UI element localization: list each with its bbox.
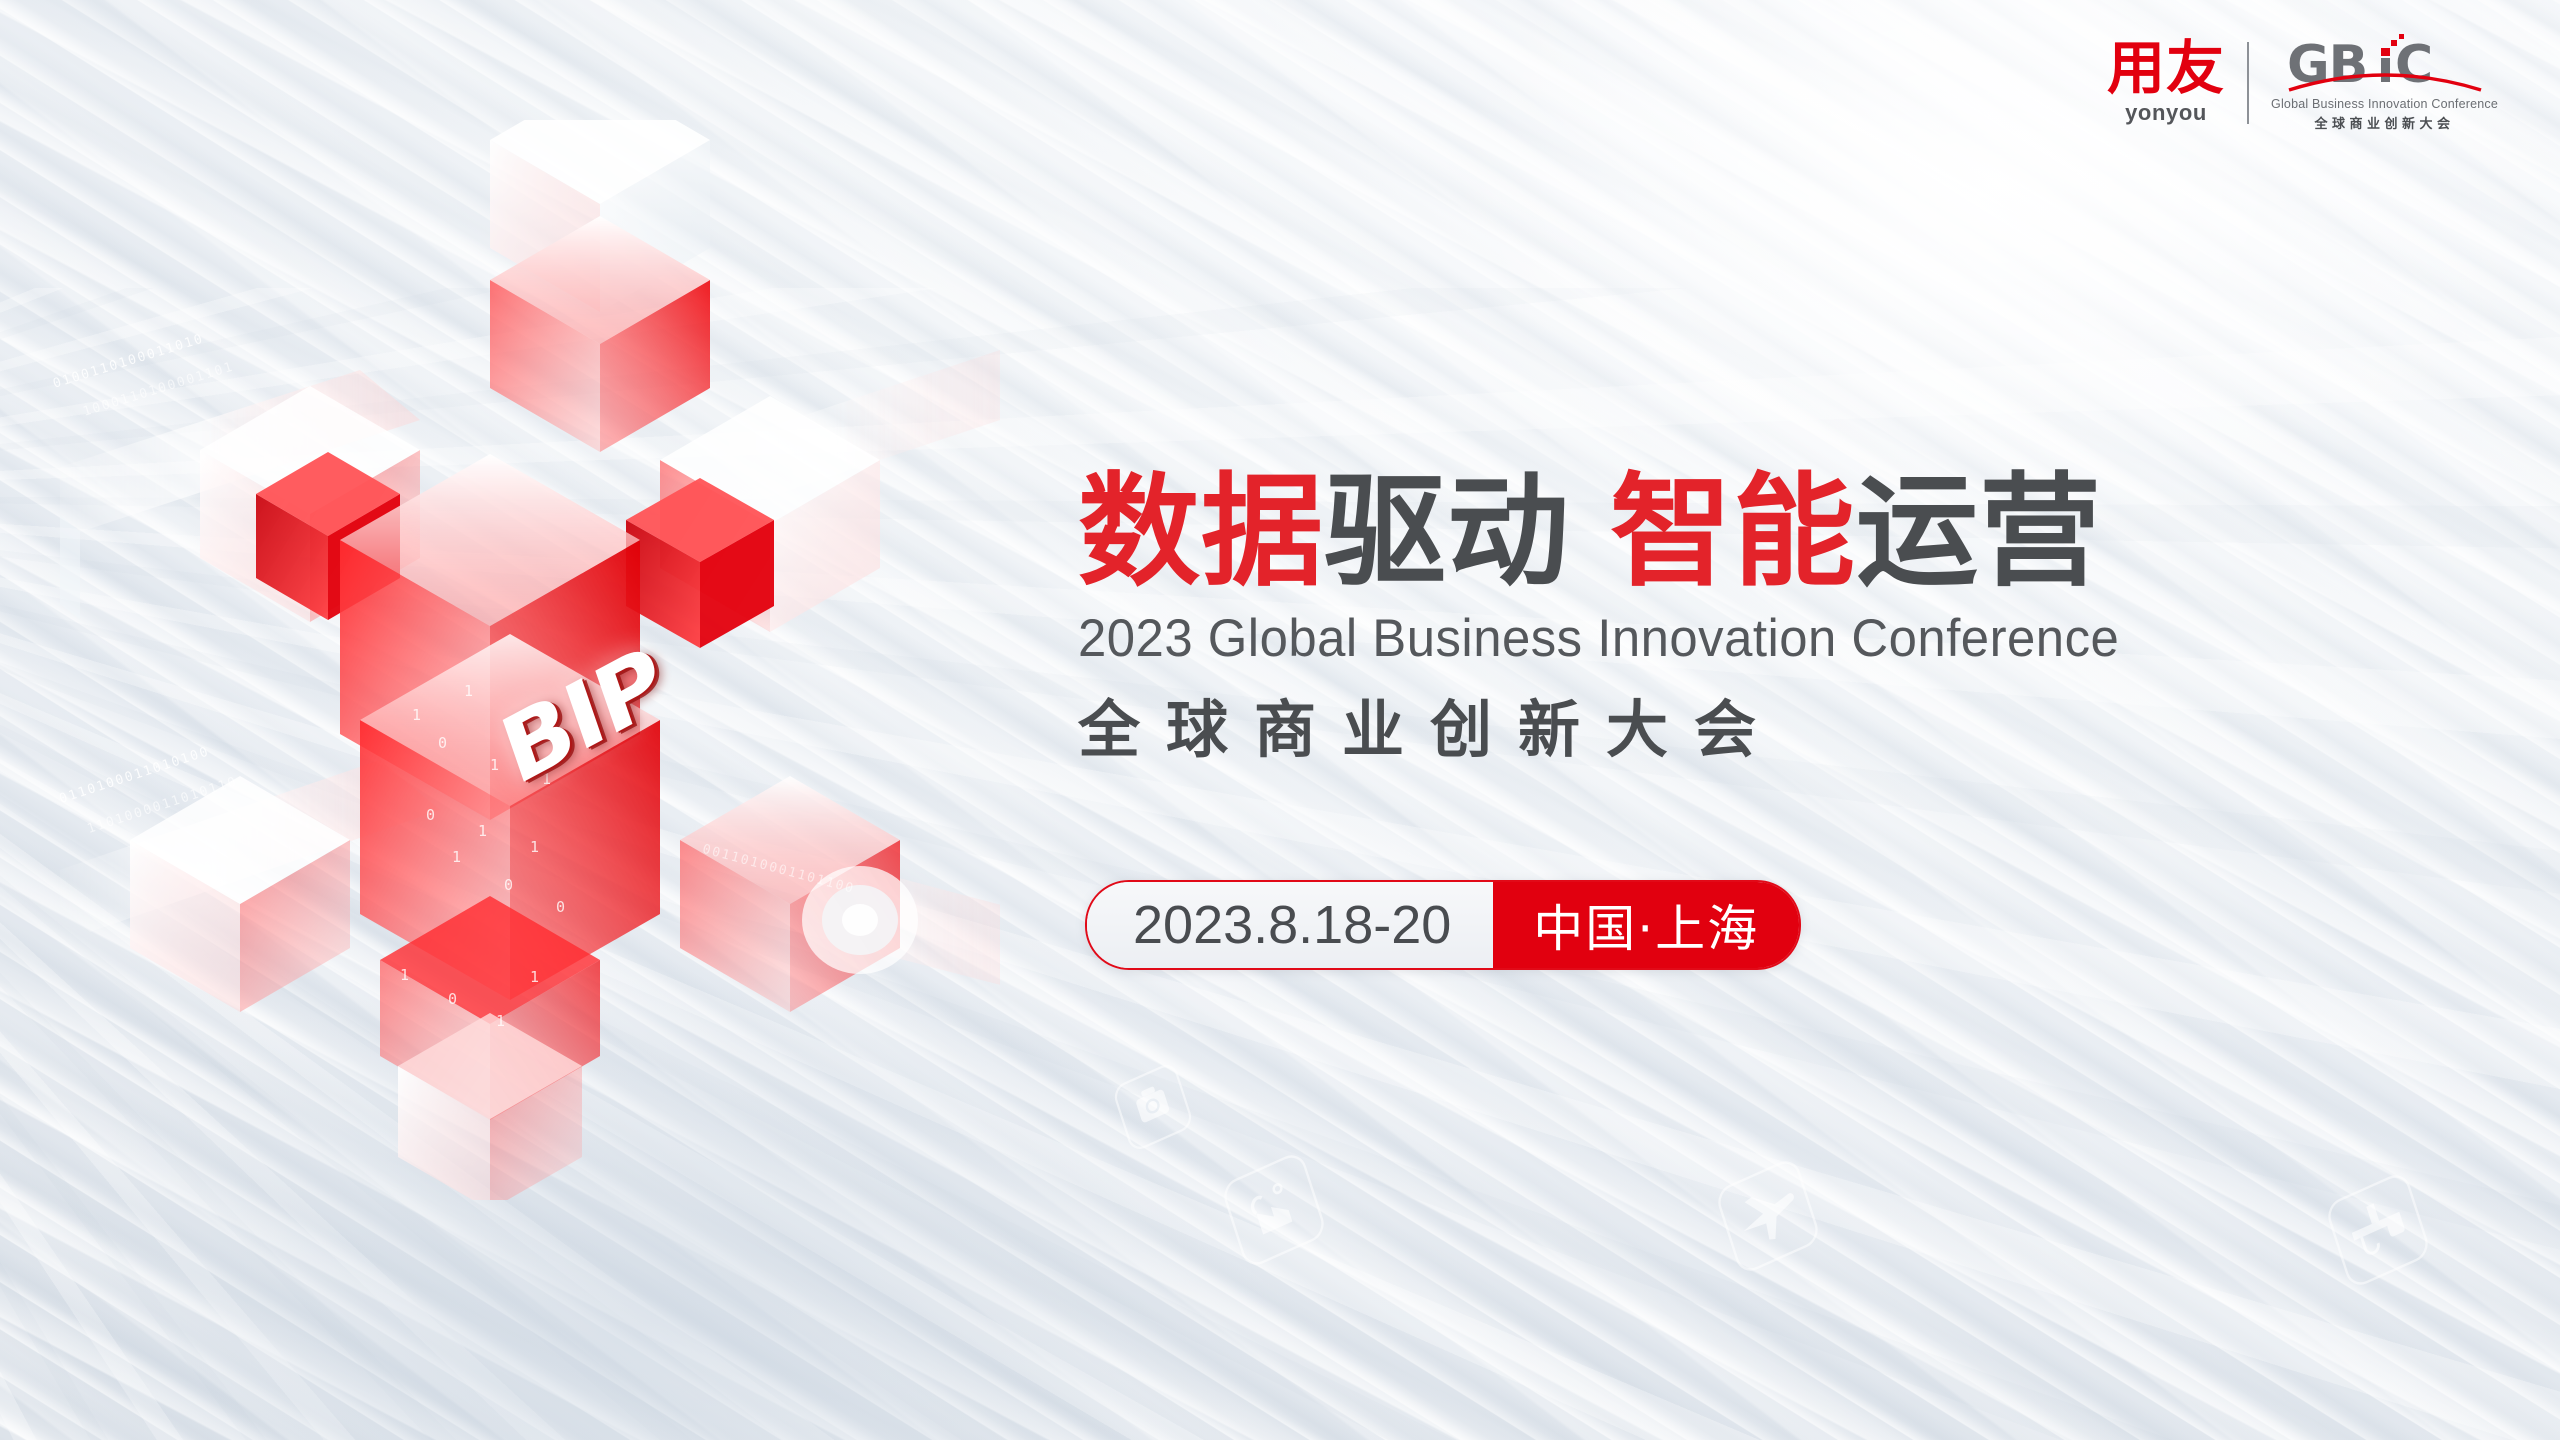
gbic-wordmark-icon: GB C	[2287, 34, 2483, 96]
logo-divider	[2247, 42, 2249, 124]
yonyou-logo-cn: 用友	[2107, 40, 2225, 97]
crane-icon	[2319, 1165, 2437, 1296]
event-city: 中国·上海	[1493, 882, 1799, 968]
hero-headline: 数据驱动智能运营	[1078, 470, 2478, 594]
svg-text:0: 0	[504, 876, 513, 894]
headline-segment-1: 数据	[1078, 461, 1324, 603]
airplane-icon	[1709, 1151, 1827, 1282]
yonyou-logo-en: yonyou	[2125, 100, 2207, 126]
svg-text:1: 1	[400, 966, 409, 984]
crystal-snowflake-graphic: 10 11 01 01 10 10 10 11 0100110100011010…	[60, 120, 1000, 1200]
svg-text:1: 1	[478, 822, 487, 840]
svg-text:1: 1	[530, 838, 539, 856]
hero-subtitle-cn: 全球商业创新大会	[1078, 679, 2478, 769]
svg-text:0: 0	[448, 990, 457, 1008]
event-info-pill: 2023.8.18-20 中国·上海	[1085, 880, 1801, 970]
svg-text:0: 0	[438, 734, 447, 752]
headline-segment-4: 运营	[1856, 461, 2102, 603]
yonyou-logo: 用友 yonyou	[2107, 40, 2225, 127]
headline-segment-3: 智能	[1610, 461, 1856, 603]
poster-canvas: 用友 yonyou GB C Global Business Innovatio…	[0, 0, 2560, 1440]
gbic-logo: GB C Global Business Innovation Conferen…	[2271, 34, 2498, 132]
svg-text:1: 1	[412, 706, 421, 724]
svg-text:1: 1	[490, 756, 499, 774]
logo-lockup: 用友 yonyou GB C Global Business Innovatio…	[2107, 34, 2498, 132]
snowflake-cubes: 10 11 01 01 10 10 10 11 0100110100011010…	[60, 120, 1000, 1200]
event-date: 2023.8.18-20	[1087, 882, 1493, 968]
svg-text:C: C	[2395, 35, 2432, 95]
svg-text:1: 1	[464, 682, 473, 700]
svg-text:0: 0	[556, 898, 565, 916]
headline-segment-2: 驱动	[1324, 461, 1570, 603]
svg-text:1: 1	[496, 1012, 505, 1030]
svg-text:0: 0	[426, 806, 435, 824]
hero-subtitle-en: 2023 Global Business Innovation Conferen…	[1078, 608, 2422, 669]
svg-text:1: 1	[452, 848, 461, 866]
hero-copy: 数据驱动智能运营 2023 Global Business Innovation…	[1078, 470, 2478, 769]
gbic-logo-en: Global Business Innovation Conference	[2271, 97, 2498, 111]
svg-text:1: 1	[530, 968, 539, 986]
gbic-logo-cn: 全球商业创新大会	[2315, 113, 2455, 132]
